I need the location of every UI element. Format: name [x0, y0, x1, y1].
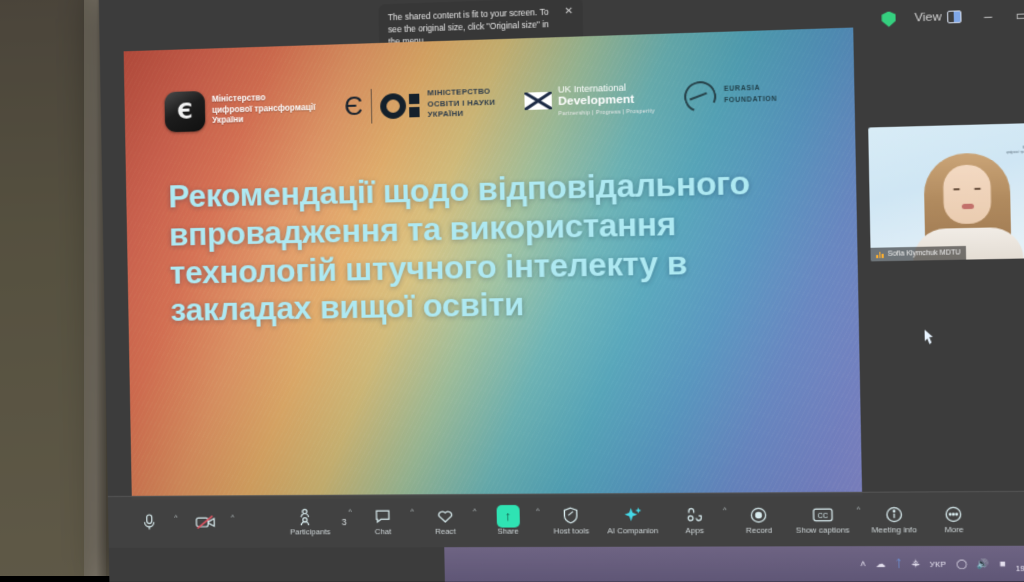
- toolbar-item-chat[interactable]: Chat: [357, 505, 409, 538]
- mon-mark-icon: [380, 92, 420, 119]
- clock[interactable]: 10:23 19.08.2025: [1015, 553, 1024, 573]
- toolbar-item-participants[interactable]: Participants: [284, 505, 336, 538]
- wall-left-panel: [0, 0, 86, 576]
- clock-date: 19.08.2025: [1016, 564, 1024, 574]
- toolbar-item-ai-companion[interactable]: AI Companion: [601, 503, 663, 537]
- toolbar-item-record[interactable]: Record: [732, 503, 786, 537]
- logo-line: FOUNDATION: [724, 95, 777, 107]
- windows-taskbar: ˄ ☁ ᛏ ⎈ УКР ◯ 🔊 ■ 10:23 19.08.2025 ✉: [444, 546, 1024, 582]
- toolbar-label: Show captions: [796, 527, 850, 535]
- projected-screen: View – ▭ ✕ SK Sofia Klymchuk MDTU's scre…: [99, 0, 1024, 582]
- tryzub-glyph: Є: [177, 101, 193, 123]
- svg-text:CC: CC: [817, 512, 828, 519]
- record-circle-icon: [750, 505, 768, 525]
- toolbar-item-host-tools[interactable]: Host tools: [545, 504, 598, 538]
- chevron-up-icon[interactable]: ^: [473, 508, 477, 515]
- squares-shape: [409, 93, 420, 117]
- sparkle-icon: [622, 506, 643, 526]
- toolbar-item-apps[interactable]: Apps: [667, 503, 721, 537]
- logo-mintsyfra: Є Міністерство цифрової трансформації Ук…: [164, 88, 315, 133]
- chevron-up-icon[interactable]: ^: [857, 507, 861, 514]
- toolbar-label: More: [945, 526, 964, 534]
- mic-tray-icon[interactable]: ⎈: [912, 558, 920, 570]
- toolbar-item-more[interactable]: More: [926, 502, 982, 537]
- start-video-button[interactable]: [180, 510, 231, 533]
- mic-level-icon: [876, 251, 884, 258]
- bluetooth-icon[interactable]: ᛏ: [895, 558, 902, 570]
- eye-shape: [974, 188, 981, 190]
- divider: [370, 89, 372, 124]
- ellipsis-icon: [945, 504, 963, 524]
- toolbar-item-share[interactable]: ↑ Share: [482, 504, 535, 538]
- zoom-toolbar: ^ ^: [108, 490, 1024, 548]
- window-controls: View – ▭ ✕: [881, 0, 1024, 35]
- layout-icon: [947, 10, 962, 23]
- logo-eurasia-foundation: EURASIA FOUNDATION: [684, 79, 777, 113]
- logo-line: України: [212, 113, 316, 127]
- battery-icon[interactable]: ■: [1000, 558, 1006, 569]
- toolbar-label: React: [435, 528, 456, 536]
- toolbar-item-react[interactable]: React: [419, 504, 471, 537]
- apps-icon: [685, 505, 704, 525]
- logo-line: Development: [558, 93, 655, 109]
- volume-icon[interactable]: 🔊: [977, 558, 990, 570]
- toolbar-item-meeting-info[interactable]: Meeting info: [866, 502, 923, 536]
- onedrive-icon[interactable]: ☁: [876, 558, 886, 570]
- toolbar-center-group: Participants 3 ^ Chat ^: [235, 502, 1024, 539]
- shield-icon: [882, 11, 897, 27]
- logo-eurasia-text: EURASIA FOUNDATION: [724, 84, 778, 107]
- mute-button[interactable]: [124, 511, 174, 534]
- shared-slide: Є Міністерство цифрової трансформації Ук…: [124, 28, 862, 500]
- toolbar-label: Record: [746, 527, 773, 535]
- maximize-button[interactable]: ▭: [1014, 8, 1024, 22]
- participant-figure: [908, 149, 1024, 261]
- close-icon[interactable]: ✕: [564, 6, 573, 18]
- toolbar-label: Chat: [375, 528, 392, 536]
- heart-icon: [436, 507, 454, 526]
- chevron-up-icon[interactable]: ^: [723, 507, 727, 514]
- logo-mon: Є МІНІСТЕРСТВО ОСВІТИ І НАУКИ УКРАЇНИ: [344, 85, 496, 124]
- participant-video-tile[interactable]: Міністерствоцифрової трансформаціїУкраїн…: [868, 122, 1024, 261]
- minimize-button[interactable]: –: [980, 9, 996, 23]
- clock-time: 10:23: [1015, 553, 1024, 563]
- square-shape: [409, 93, 420, 103]
- chevron-up-icon[interactable]: ^: [536, 508, 540, 515]
- toolbar-label: Meeting info: [871, 526, 916, 534]
- chevron-up-icon[interactable]: ^: [231, 514, 234, 521]
- view-button[interactable]: View: [914, 10, 961, 24]
- chevron-up-icon[interactable]: ^: [174, 515, 177, 522]
- camera-off-icon: [196, 513, 217, 532]
- chat-bubble-icon: [374, 507, 391, 526]
- wifi-icon[interactable]: ◯: [956, 558, 967, 570]
- toolbar-label: Host tools: [554, 527, 590, 535]
- cc-icon: CC: [812, 505, 833, 525]
- toolbar-left-group: ^ ^: [124, 510, 236, 534]
- chevron-up-icon[interactable]: ^: [410, 509, 414, 516]
- toolbar-label: Apps: [685, 527, 704, 535]
- language-indicator[interactable]: УКР: [930, 559, 947, 568]
- info-icon: [885, 504, 903, 524]
- mouth-shape: [961, 204, 973, 210]
- slide-title: Рекомендації щодо відповідального впрова…: [168, 162, 826, 330]
- chevron-up-icon[interactable]: ˄: [860, 559, 866, 569]
- logo-mintsyfra-text: Міністерство цифрової трансформації Укра…: [212, 91, 316, 127]
- toolbar-label: Share: [497, 528, 518, 536]
- union-jack-icon: [524, 92, 552, 110]
- people-icon: [299, 507, 321, 526]
- tryzub-icon: Є: [164, 91, 205, 132]
- toolbar-item-show-captions[interactable]: CC Show captions: [790, 502, 855, 536]
- share-arrow-up-icon: ↑: [496, 506, 519, 526]
- eurasia-e-icon: [680, 77, 721, 117]
- share-icon-box: ↑: [496, 505, 519, 528]
- logo-mon-text: МІНІСТЕРСТВО ОСВІТИ І НАУКИ УКРАЇНИ: [427, 86, 495, 121]
- logo-uk-text: UK International Development Partnership…: [558, 82, 655, 117]
- eye-shape: [953, 188, 960, 190]
- participants-count: 3: [342, 516, 347, 526]
- chevron-up-icon[interactable]: ^: [348, 509, 352, 516]
- shield-icon: [563, 506, 579, 526]
- mouse-cursor: [925, 330, 935, 345]
- logo-tagline: Partnership | Progress | Prosperity: [558, 108, 655, 117]
- circle-shape: [380, 93, 406, 119]
- square-shape: [409, 106, 420, 116]
- view-label: View: [914, 11, 941, 24]
- zoom-meeting-window: View – ▭ ✕ SK Sofia Klymchuk MDTU's scre…: [99, 0, 1024, 582]
- toolbar-label: AI Companion: [607, 527, 658, 535]
- tryzub-icon: Є: [344, 94, 363, 120]
- participant-name-bar: Sofia Klymchuk MDTU: [870, 246, 966, 261]
- participant-name: Sofia Klymchuk MDTU: [888, 249, 961, 258]
- logo-line: УКРАЇНИ: [428, 108, 496, 121]
- logo-uk-international-development: UK International Development Partnership…: [524, 82, 655, 118]
- microphone-icon: [143, 513, 155, 532]
- face-shape: [943, 164, 992, 224]
- toolbar-label: Participants: [290, 528, 331, 536]
